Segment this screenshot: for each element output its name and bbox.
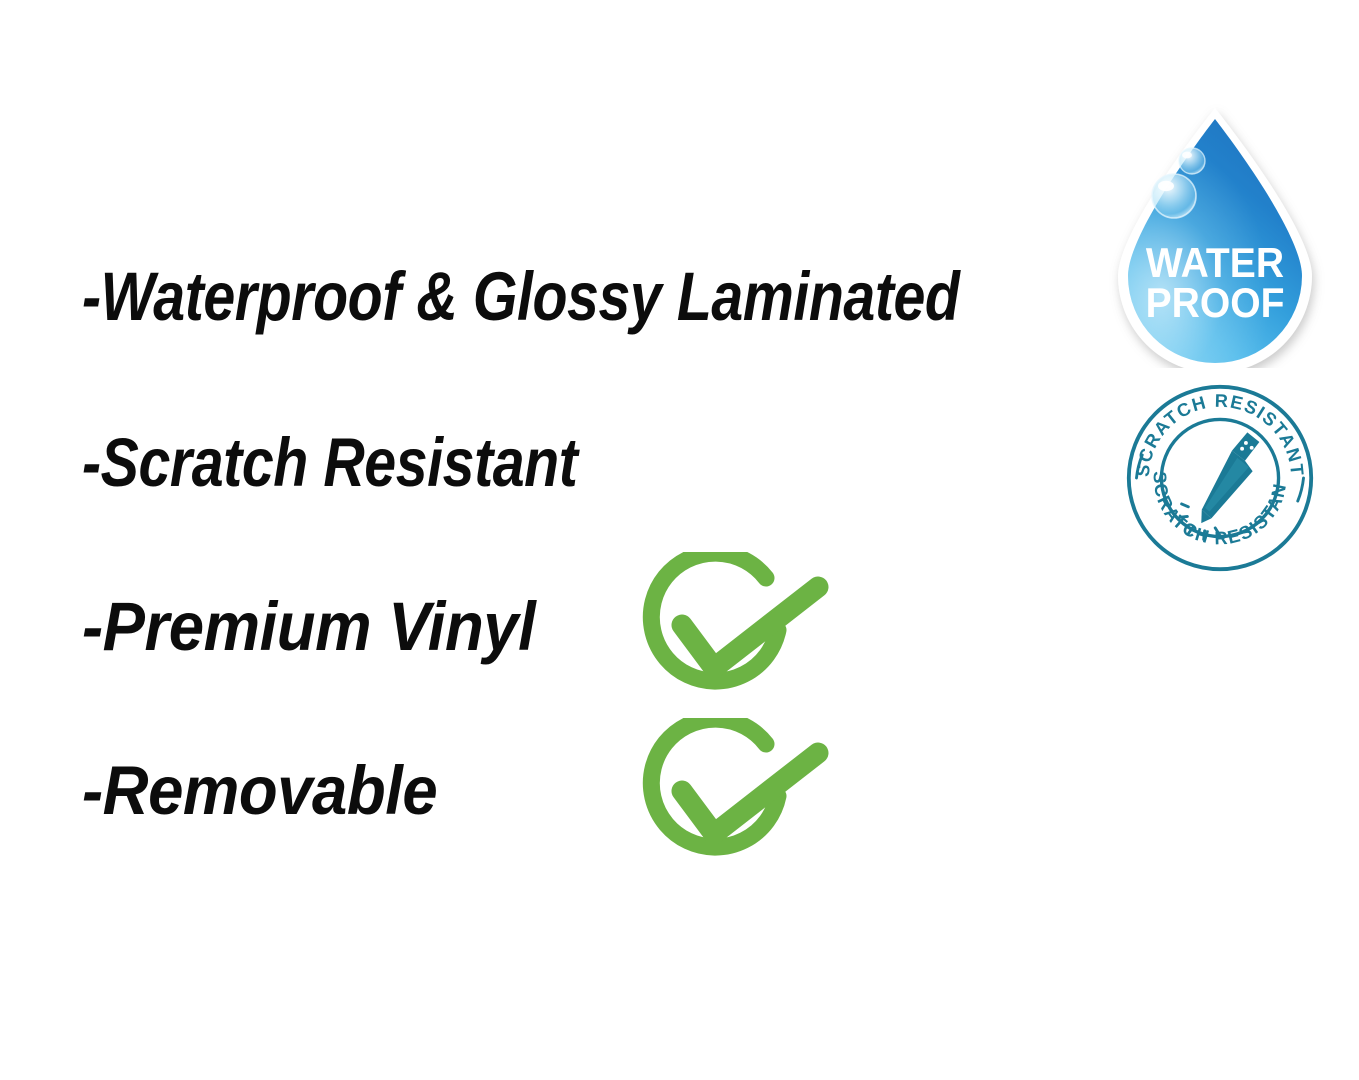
feature-line-scratch-resistant: -Scratch Resistant xyxy=(82,428,577,497)
feature-line-removable: -Removable xyxy=(82,756,437,825)
check-circle-icon-1 xyxy=(638,552,834,712)
feature-list-graphic: -Waterproof & Glossy Laminated -Scratch … xyxy=(0,0,1359,1080)
knife-icon xyxy=(1201,432,1259,523)
bubble-small xyxy=(1179,148,1205,174)
waterproof-line-2: PROOF xyxy=(1146,279,1285,327)
check-mark-stroke xyxy=(682,587,818,668)
stamp-dash-right xyxy=(1298,478,1304,501)
stamp-text-top: SCRATCH RESISTANT xyxy=(1132,390,1309,478)
check-circle-icon-2 xyxy=(638,718,834,878)
feature-line-waterproof: -Waterproof & Glossy Laminated xyxy=(82,262,960,331)
waterproof-badge: WATER PROOF xyxy=(1098,100,1332,368)
scratch-resistant-badge: SCRATCH RESISTANT SCRATCH RESISTANT xyxy=(1124,382,1316,574)
check-mark-stroke xyxy=(682,753,818,834)
feature-line-premium-vinyl: -Premium Vinyl xyxy=(82,592,535,661)
bubble-large xyxy=(1152,174,1196,218)
